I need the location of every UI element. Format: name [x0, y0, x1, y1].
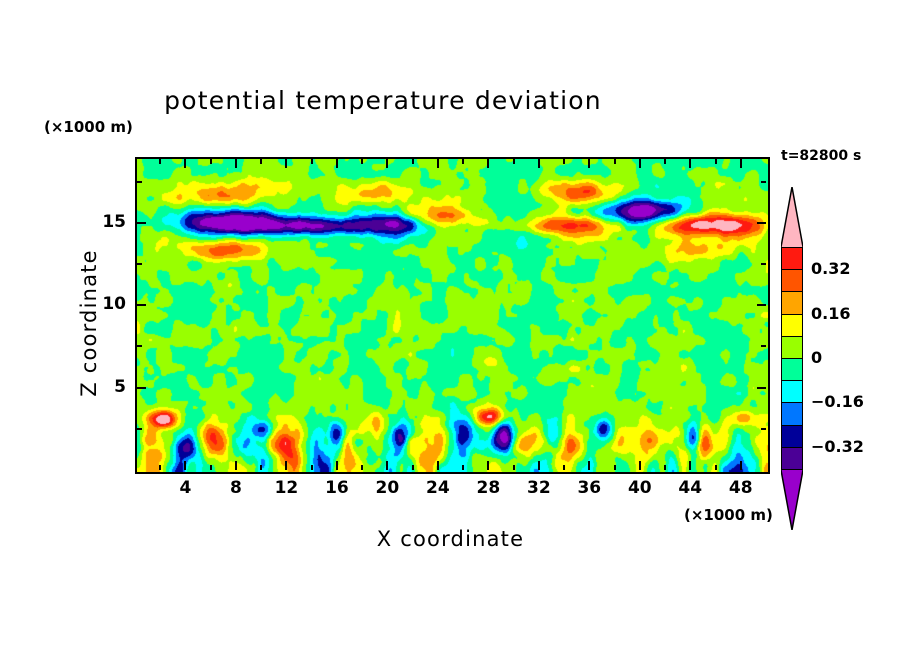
x-tick-label: 32: [516, 478, 562, 498]
x-tick: [740, 461, 742, 470]
x-tick: [538, 461, 540, 470]
x-tick: [689, 461, 691, 470]
x-tick: [538, 159, 540, 168]
x-tick: [285, 159, 287, 168]
x-tick: [159, 159, 161, 164]
contour-field: [137, 159, 768, 472]
x-tick-label: 44: [667, 478, 713, 498]
x-tick: [210, 465, 212, 470]
x-tick-label: 36: [566, 478, 612, 498]
colorbar-arrow-outline: [781, 187, 803, 248]
x-tick: [336, 461, 338, 470]
x-tick: [260, 465, 262, 470]
y-tick-label: 15: [86, 212, 126, 232]
x-tick: [715, 159, 717, 164]
x-tick: [210, 159, 212, 164]
x-tick-label: 28: [465, 478, 511, 498]
x-tick: [184, 461, 186, 470]
x-tick-label: 4: [162, 478, 208, 498]
x-tick: [311, 159, 313, 164]
x-tick: [513, 465, 515, 470]
x-tick: [639, 461, 641, 470]
x-tick: [588, 461, 590, 470]
y-tick: [137, 263, 142, 265]
x-tick: [689, 159, 691, 168]
y-tick: [757, 387, 766, 389]
x-tick: [184, 159, 186, 168]
y-tick: [137, 181, 142, 183]
x-tick: [563, 159, 565, 164]
x-tick: [639, 159, 641, 168]
figure-canvas: potential temperature deviation (×1000 m…: [0, 0, 904, 654]
x-tick: [437, 461, 439, 470]
colorbar: 0.320.160−0.16−0.32: [781, 247, 803, 469]
x-tick: [487, 461, 489, 470]
colorbar-band: [781, 358, 803, 382]
x-tick-label: 48: [718, 478, 764, 498]
x-tick: [336, 159, 338, 168]
x-tick: [235, 159, 237, 168]
y-tick: [761, 181, 766, 183]
x-tick: [311, 465, 313, 470]
colorbar-band: [781, 425, 803, 449]
x-tick: [285, 461, 287, 470]
colorbar-tick-label: 0.32: [811, 259, 850, 278]
colorbar-band: [781, 291, 803, 315]
x-tick: [412, 159, 414, 164]
x-tick: [260, 159, 262, 164]
colorbar-band: [781, 247, 803, 271]
colorbar-band: [781, 314, 803, 338]
y-tick: [757, 222, 766, 224]
x-tick-label: 12: [263, 478, 309, 498]
colorbar-band: [781, 269, 803, 293]
x-tick: [386, 461, 388, 470]
x-tick: [563, 465, 565, 470]
y-tick: [761, 428, 766, 430]
x-axis-title: X coordinate: [135, 527, 766, 551]
y-tick: [137, 222, 146, 224]
x-tick: [386, 159, 388, 168]
colorbar-band: [781, 336, 803, 360]
x-tick: [513, 159, 515, 164]
x-tick: [487, 159, 489, 168]
x-tick: [614, 465, 616, 470]
y-tick: [137, 345, 142, 347]
x-tick: [588, 159, 590, 168]
x-tick: [361, 159, 363, 164]
colorbar-tick-label: −0.32: [811, 437, 864, 456]
y-tick: [757, 304, 766, 306]
y-tick: [137, 387, 146, 389]
x-tick: [462, 465, 464, 470]
colorbar-tick-label: 0.16: [811, 304, 850, 323]
y-tick: [761, 263, 766, 265]
x-tick: [614, 159, 616, 164]
contour-plot-area: [135, 157, 770, 474]
x-tick: [664, 465, 666, 470]
page-title: potential temperature deviation: [0, 86, 766, 115]
x-axis-units-label: (×1000 m): [684, 506, 773, 524]
colorbar-tick-label: −0.16: [811, 392, 864, 411]
time-annotation: t=82800 s: [781, 148, 861, 164]
x-tick: [715, 465, 717, 470]
x-tick-label: 20: [364, 478, 410, 498]
x-tick: [235, 461, 237, 470]
x-tick-label: 40: [617, 478, 663, 498]
colorbar-band: [781, 402, 803, 426]
y-tick-label: 5: [86, 377, 126, 397]
y-tick: [137, 428, 142, 430]
colorbar-tick-label: 0: [811, 348, 822, 367]
colorbar-arrow-outline: [781, 469, 803, 530]
y-tick-label: 10: [86, 294, 126, 314]
x-tick: [664, 159, 666, 164]
x-tick: [740, 159, 742, 168]
x-tick: [412, 465, 414, 470]
y-tick: [761, 345, 766, 347]
y-tick: [137, 304, 146, 306]
x-tick-label: 8: [213, 478, 259, 498]
x-tick: [437, 159, 439, 168]
x-tick: [361, 465, 363, 470]
x-tick-label: 24: [415, 478, 461, 498]
x-tick: [462, 159, 464, 164]
colorbar-band: [781, 447, 803, 471]
x-tick-label: 16: [314, 478, 360, 498]
z-axis-units-label: (×1000 m): [44, 118, 133, 136]
x-tick: [159, 465, 161, 470]
colorbar-band: [781, 380, 803, 404]
